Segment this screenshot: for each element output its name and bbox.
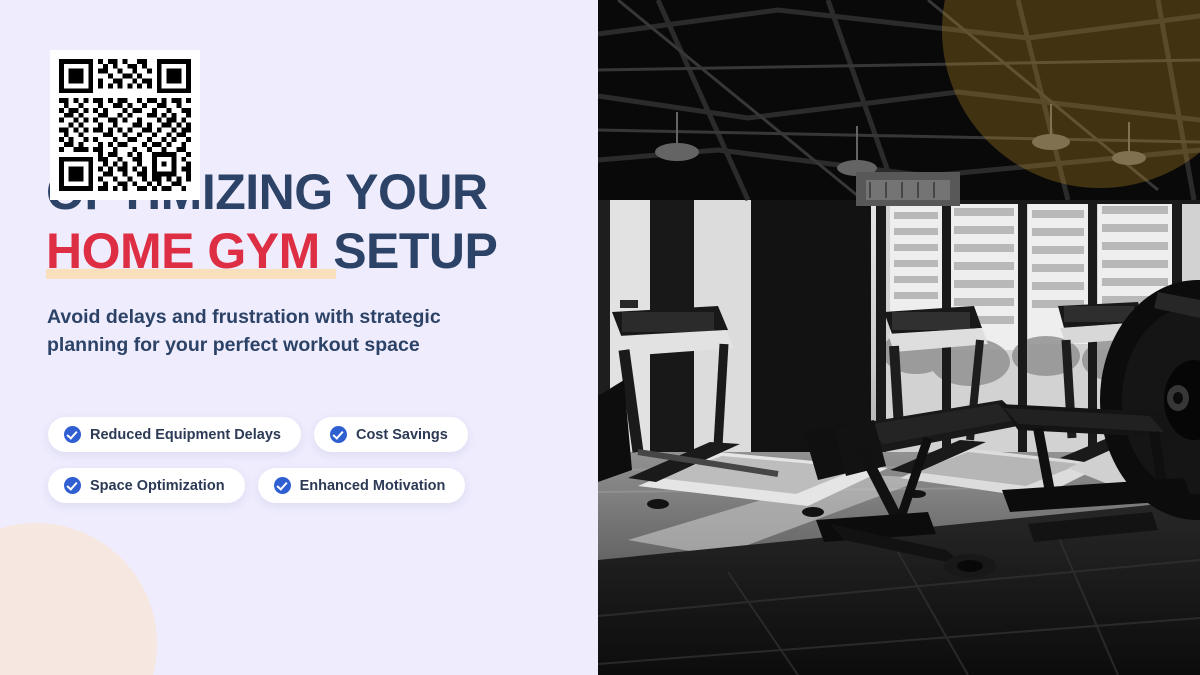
left-content-panel: OPTIMIZING YOUR HOME GYM SETUP [0, 0, 598, 675]
check-circle-icon [330, 426, 347, 443]
poster-canvas: OPTIMIZING YOUR HOME GYM SETUP [0, 0, 1200, 675]
benefit-label: Space Optimization [90, 478, 225, 494]
benefit-label: Reduced Equipment Delays [90, 427, 281, 443]
benefit-label: Enhanced Motivation [300, 478, 446, 494]
left-content-stack: OPTIMIZING YOUR HOME GYM SETUP [0, 0, 598, 675]
headline-highlight-group: HOME GYM [46, 222, 320, 281]
benefits-row-2: Space Optimization Enhanced Motivation [48, 468, 568, 503]
qr-code-graphic [54, 54, 196, 196]
benefit-pill[interactable]: Cost Savings [314, 417, 468, 452]
benefit-pill[interactable]: Enhanced Motivation [258, 468, 466, 503]
benefit-label: Cost Savings [356, 427, 448, 443]
benefit-pill[interactable]: Space Optimization [48, 468, 245, 503]
benefits-row-1: Reduced Equipment Delays Cost Savings [48, 417, 568, 452]
gym-photo [598, 0, 1200, 675]
headline-line-2: HOME GYM SETUP [46, 222, 576, 281]
gym-photo-graphic [598, 0, 1200, 675]
check-circle-icon [64, 477, 81, 494]
subtitle-text: Avoid delays and frustration with strate… [47, 303, 507, 359]
benefit-pill[interactable]: Reduced Equipment Delays [48, 417, 301, 452]
qr-code-icon[interactable] [50, 50, 200, 200]
headline-highlight-text: HOME GYM [46, 223, 320, 279]
benefits-list: Reduced Equipment Delays Cost Savings Sp… [48, 417, 568, 519]
check-circle-icon [274, 477, 291, 494]
check-circle-icon [64, 426, 81, 443]
headline-line-2-rest: SETUP [320, 223, 498, 279]
